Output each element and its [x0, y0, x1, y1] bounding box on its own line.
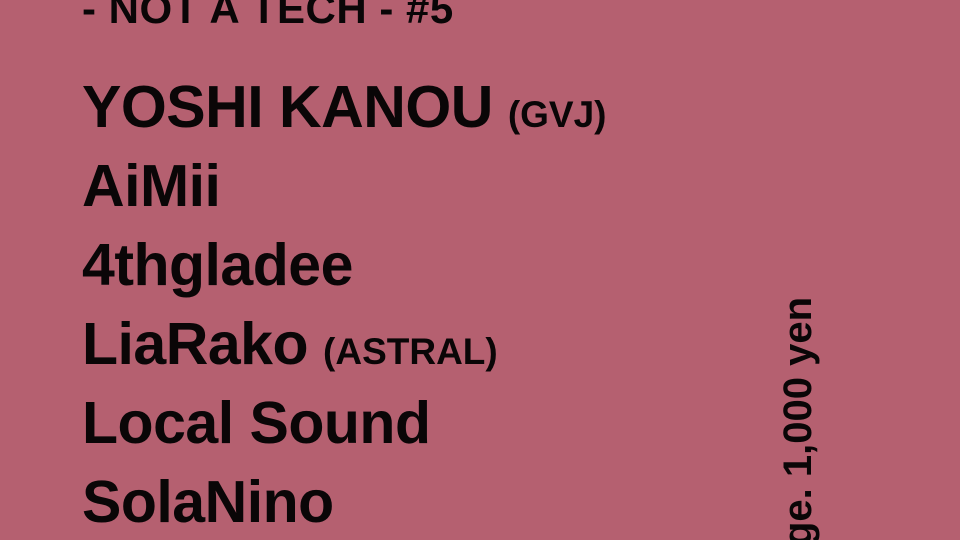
artist-name: 4thgladee [82, 236, 353, 295]
artist-affiliation: (ASTRAL) [323, 333, 498, 370]
artist-name: Local Sound [82, 394, 431, 453]
lineup-item: YOSHI KANOU (GVJ) [82, 78, 842, 157]
lineup-item: SolaNino [82, 473, 842, 540]
artist-name: YOSHI KANOU [82, 78, 493, 137]
artist-affiliation: (GVJ) [508, 96, 607, 133]
lineup-item: AiMii [82, 157, 842, 236]
artist-lineup-list: YOSHI KANOU (GVJ) AiMii 4thgladee LiaRak… [82, 78, 842, 540]
event-flyer-poster: - NOT A TECH - #5 YOSHI KANOU (GVJ) AiMi… [0, 0, 960, 540]
lineup-item: Local Sound [82, 394, 842, 473]
artist-name: LiaRako [82, 315, 308, 374]
lineup-item: 4thgladee [82, 236, 842, 315]
event-title-header: - NOT A TECH - #5 [82, 0, 454, 30]
price-note-vertical: ge. 1,000 yen [778, 297, 818, 540]
artist-name: AiMii [82, 157, 220, 216]
artist-name: SolaNino [82, 473, 334, 532]
lineup-item: LiaRako (ASTRAL) [82, 315, 842, 394]
